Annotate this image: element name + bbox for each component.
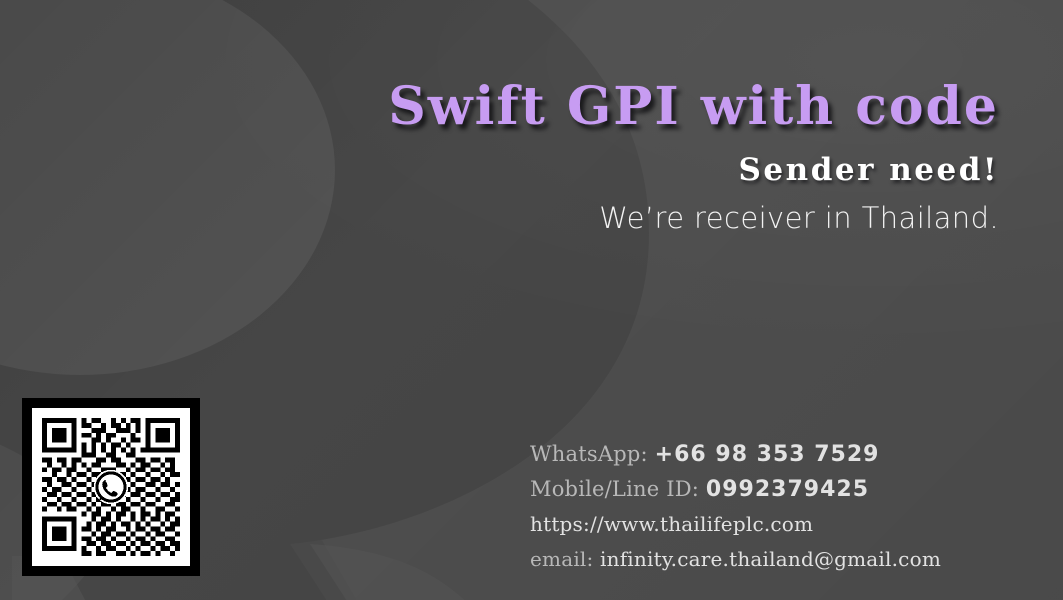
qr-code-frame[interactable] — [22, 398, 200, 576]
contact-row-email: email: infinity.care.thailand@gmail.com — [530, 542, 941, 577]
contact-row-mobile-line-id: Mobile/Line ID: 0992379425 — [530, 472, 941, 507]
contact-row-website: https://www.thailifeplc.com — [530, 507, 941, 542]
whatsapp-icon — [94, 470, 129, 505]
page-subtitle: Sender need! — [0, 135, 999, 187]
contact-value-email[interactable]: infinity.care.thailand@gmail.com — [600, 547, 941, 571]
heading-block: Swift GPI with code Sender need! We’re r… — [0, 0, 1063, 235]
qr-code-inner — [32, 408, 190, 566]
page-tagline: We’re receiver in Thailand. — [0, 187, 999, 235]
contact-block: WhatsApp: +66 98 353 7529 Mobile/Line ID… — [530, 437, 941, 577]
contact-value-whatsapp[interactable]: +66 98 353 7529 — [655, 442, 880, 467]
contact-value-mobile-line-id[interactable]: 0992379425 — [706, 477, 869, 502]
business-card: Swift GPI with code Sender need! We’re r… — [0, 0, 1063, 600]
contact-value-website[interactable]: https://www.thailifeplc.com — [530, 512, 813, 536]
contact-label-email: email: — [530, 547, 593, 571]
page-title: Swift GPI with code — [0, 0, 999, 135]
qr-code-icon[interactable] — [42, 418, 180, 556]
contact-label-mobile-line-id: Mobile/Line ID: — [530, 477, 699, 501]
contact-row-whatsapp: WhatsApp: +66 98 353 7529 — [530, 437, 941, 472]
contact-label-whatsapp: WhatsApp: — [530, 442, 648, 466]
